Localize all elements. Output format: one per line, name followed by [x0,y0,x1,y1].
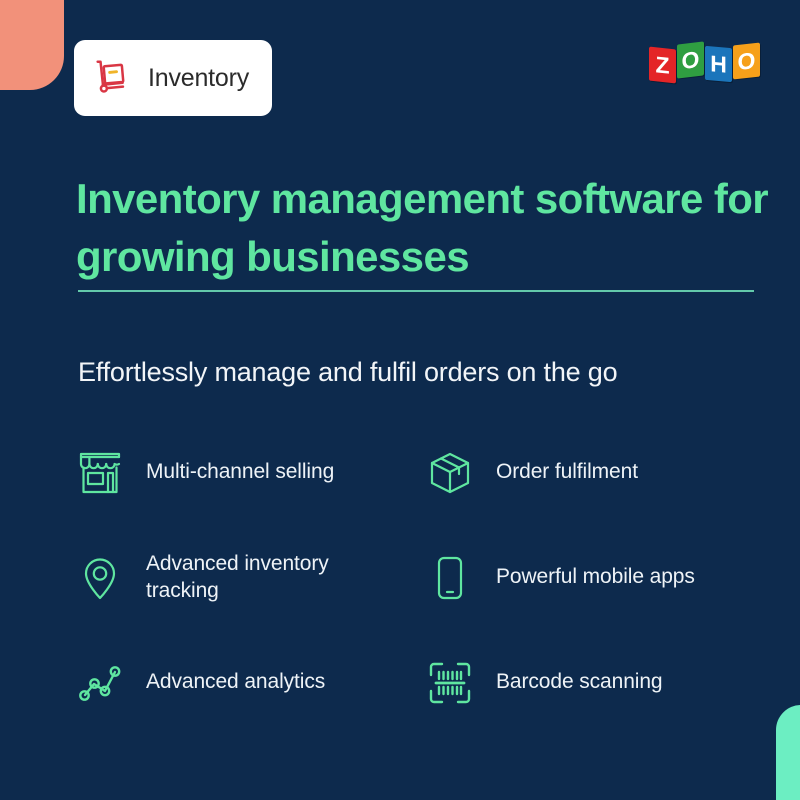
zoho-letter-z: Z [649,47,676,84]
feature-item-barcode-scanning: Barcode scanning [426,630,776,735]
feature-label: Powerful mobile apps [496,564,695,591]
storefront-icon [76,449,124,497]
mobile-phone-icon [426,554,474,602]
package-box-icon [426,449,474,497]
hand-truck-icon [90,55,136,101]
feature-item-advanced-analytics: Advanced analytics [76,630,426,735]
subheadline: Effortlessly manage and fulfil orders on… [78,355,778,390]
zoho-letter-h: H [705,46,732,82]
product-badge-label: Inventory [148,64,249,93]
barcode-scanner-icon [426,659,474,707]
zoho-logo[interactable]: Z O H O [649,44,760,90]
product-badge[interactable]: Inventory [74,40,272,116]
feature-label: Advanced analytics [146,669,325,696]
promo-banner: Inventory Z O H O Inventory management s… [0,0,800,800]
top-left-coral-shape [0,0,64,90]
divider [78,290,754,292]
headline: Inventory management software for growin… [76,170,776,286]
feature-item-order-fulfilment: Order fulfilment [426,420,776,525]
zoho-letter-o-first: O [677,41,704,78]
feature-label: Order fulfilment [496,459,638,486]
feature-item-multi-channel-selling: Multi-channel selling [76,420,426,525]
bottom-right-mint-shape [776,705,800,800]
feature-label: Multi-channel selling [146,459,334,486]
feature-label: Advanced inventory tracking [146,551,396,605]
map-pin-icon [76,554,124,602]
zoho-letter-o-second: O [733,43,760,80]
feature-item-powerful-mobile-apps: Powerful mobile apps [426,525,776,630]
feature-label: Barcode scanning [496,669,663,696]
feature-list: Multi-channel selling Order fulfilment [76,420,776,735]
line-chart-icon [76,659,124,707]
feature-item-advanced-inventory-tracking: Advanced inventory tracking [76,525,426,630]
